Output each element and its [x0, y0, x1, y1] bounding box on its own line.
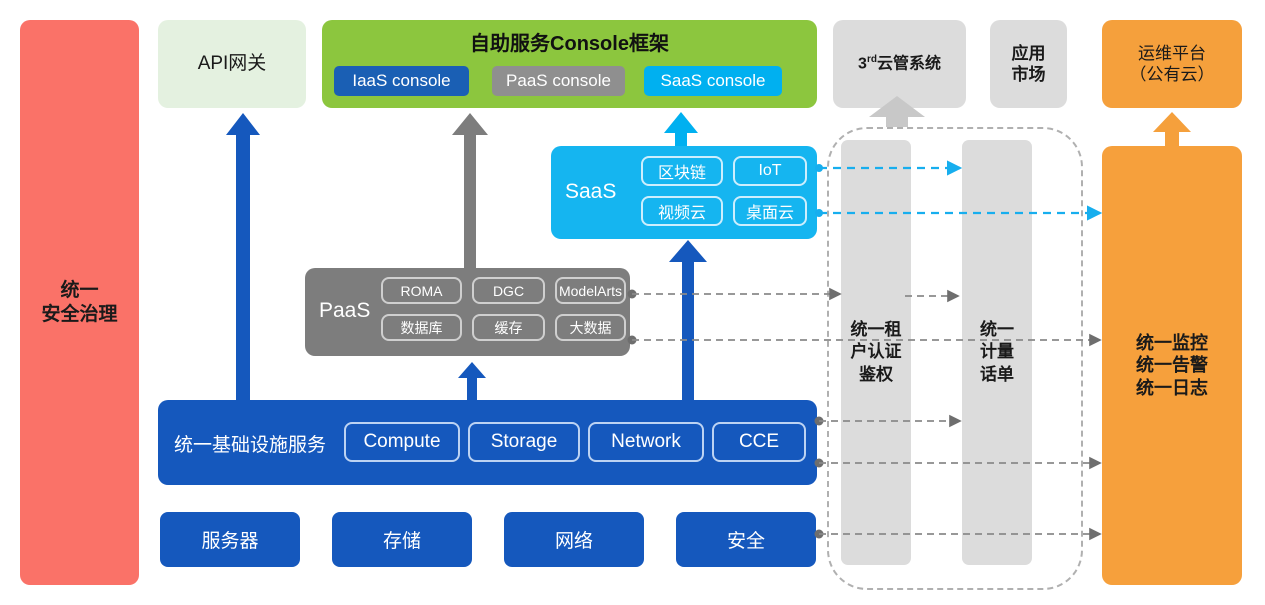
billing-line-3: 话单 — [980, 364, 1014, 386]
billing-line-2: 计量 — [980, 341, 1014, 363]
arrow-infra-to-api-gateway — [226, 113, 260, 400]
auth-line-2: 户认证 — [851, 341, 902, 363]
paas-chip-modelarts[interactable]: ModelArts — [555, 277, 626, 304]
iaas-console-chip[interactable]: IaaS console — [334, 66, 469, 96]
auth-line-1: 统一租 — [851, 319, 902, 341]
governance-line-1: 统一 — [41, 279, 117, 303]
app-market-line-1: 应用 — [1012, 43, 1046, 64]
ops-platform-line-1: 运维平台 — [1130, 43, 1215, 64]
saas-console-chip[interactable]: SaaS console — [644, 66, 782, 96]
ops-platform-box: 运维平台 （公有云） — [1102, 20, 1242, 108]
auth-line-3: 鉴权 — [851, 364, 902, 386]
paas-label: PaaS — [319, 299, 370, 323]
monitoring-line-2: 统一告警 — [1136, 354, 1208, 377]
infrastructure-label: 统一基础设施服务 — [174, 430, 326, 457]
monitoring-line-1: 统一监控 — [1136, 332, 1208, 355]
arrow-infra-to-paas — [458, 362, 486, 400]
unified-monitoring-panel: 统一监控 统一告警 统一日志 — [1102, 146, 1242, 585]
paas-chip-roma[interactable]: ROMA — [381, 277, 462, 304]
arrow-paas-to-console — [452, 113, 488, 268]
architecture-diagram: 统一 安全治理 API网关 自助服务Console框架 IaaS console… — [0, 0, 1265, 605]
paas-chip-bigdata[interactable]: 大数据 — [555, 314, 626, 341]
unified-infrastructure-box: 统一基础设施服务 Compute Storage Network CCE — [158, 400, 817, 485]
app-market-line-2: 市场 — [1012, 64, 1046, 85]
saas-chip-video-cloud[interactable]: 视频云 — [641, 196, 723, 226]
infra-chip-cce[interactable]: CCE — [712, 422, 806, 462]
arrow-to-ops-platform — [1153, 112, 1191, 146]
console-framework-title: 自助服务Console框架 — [322, 27, 817, 56]
paas-chip-database[interactable]: 数据库 — [381, 314, 462, 341]
infra-chip-compute[interactable]: Compute — [344, 422, 460, 462]
arrow-infra-to-saas — [669, 240, 707, 400]
infra-chip-storage[interactable]: Storage — [468, 422, 580, 462]
dashed-paas-to-auth — [628, 290, 841, 299]
hardware-network-box[interactable]: 网络 — [504, 512, 644, 567]
third-party-cloud-management-box: 3rd云管系统 — [833, 20, 966, 108]
governance-line-2: 安全治理 — [41, 303, 117, 327]
self-service-console-framework: 自助服务Console框架 IaaS console PaaS console … — [322, 20, 817, 108]
paas-console-chip[interactable]: PaaS console — [492, 66, 625, 96]
api-gateway-box: API网关 — [158, 20, 306, 108]
paas-chip-cache[interactable]: 缓存 — [472, 314, 545, 341]
saas-chip-blockchain[interactable]: 区块链 — [641, 156, 723, 186]
saas-layer-box: SaaS 区块链 IoT 视频云 桌面云 — [551, 146, 817, 239]
unified-security-governance-panel: 统一 安全治理 — [20, 20, 139, 585]
hardware-server-box[interactable]: 服务器 — [160, 512, 300, 567]
unified-billing-column: 统一 计量 话单 — [962, 140, 1032, 565]
paas-layer-box: PaaS ROMA DGC ModelArts 数据库 缓存 大数据 — [305, 268, 630, 356]
ops-platform-line-2: （公有云） — [1130, 64, 1215, 85]
third-cloud-label: 3rd云管系统 — [858, 54, 941, 74]
hardware-storage-box[interactable]: 存储 — [332, 512, 472, 567]
unified-tenant-auth-column: 统一租 户认证 鉴权 — [841, 140, 911, 565]
saas-chip-iot[interactable]: IoT — [733, 156, 807, 186]
monitoring-line-3: 统一日志 — [1136, 377, 1208, 400]
infra-chip-network[interactable]: Network — [588, 422, 704, 462]
hardware-security-box[interactable]: 安全 — [676, 512, 816, 567]
saas-chip-desktop-cloud[interactable]: 桌面云 — [733, 196, 807, 226]
arrow-saas-to-console — [664, 112, 698, 146]
app-market-box: 应用 市场 — [990, 20, 1067, 108]
billing-line-1: 统一 — [980, 319, 1014, 341]
saas-label: SaaS — [565, 180, 616, 204]
paas-chip-dgc[interactable]: DGC — [472, 277, 545, 304]
api-gateway-label: API网关 — [198, 52, 267, 76]
